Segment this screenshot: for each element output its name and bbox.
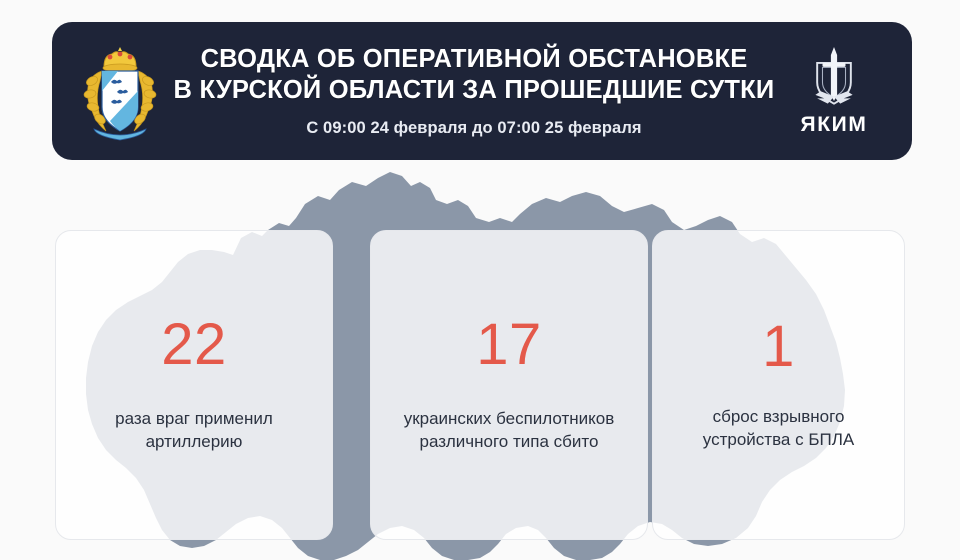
stat-card-drones[interactable]: 17 украинских беспилотников различного т…: [370, 230, 648, 540]
stat-card-explosive-drop[interactable]: 1 сброс взрывного устройства с БПЛА: [652, 230, 905, 540]
stat-caption-artillery: раза враг применил артиллерию: [115, 408, 273, 454]
stat-number-artillery: 22: [161, 316, 227, 374]
coat-of-arms-kursk-oblast-icon: [74, 41, 166, 141]
stat-caption-explosive-drop: сброс взрывного устройства с БПЛА: [703, 406, 854, 452]
header-text-block: СВОДКА ОБ ОПЕРАТИВНОЙ ОБСТАНОВКЕ В КУРСК…: [166, 44, 782, 138]
yakim-wordmark: ЯКИМ: [801, 113, 868, 137]
stats-group-left: 22 раза враг применил артиллерию 17 укра…: [55, 230, 648, 540]
stat-caption-drones: украинских беспилотников различного типа…: [404, 408, 615, 454]
infographic-stage: 22 раза враг применил артиллерию 17 укра…: [0, 0, 960, 560]
yakim-logo: ЯКИМ: [782, 45, 886, 137]
card-divider-gap-left: [333, 230, 370, 540]
shield-sword-logo-icon: [803, 45, 865, 111]
page-title: СВОДКА ОБ ОПЕРАТИВНОЙ ОБСТАНОВКЕ В КУРСК…: [172, 44, 776, 106]
header-banner: СВОДКА ОБ ОПЕРАТИВНОЙ ОБСТАНОВКЕ В КУРСК…: [52, 22, 912, 160]
stat-number-explosive-drop: 1: [762, 318, 795, 376]
stat-number-drones: 17: [476, 316, 542, 374]
report-period-subtitle: С 09:00 24 февраля до 07:00 25 февраля: [172, 119, 776, 138]
stat-card-artillery[interactable]: 22 раза враг применил артиллерию: [55, 230, 333, 540]
stats-group-right: 1 сброс взрывного устройства с БПЛА: [652, 230, 905, 540]
